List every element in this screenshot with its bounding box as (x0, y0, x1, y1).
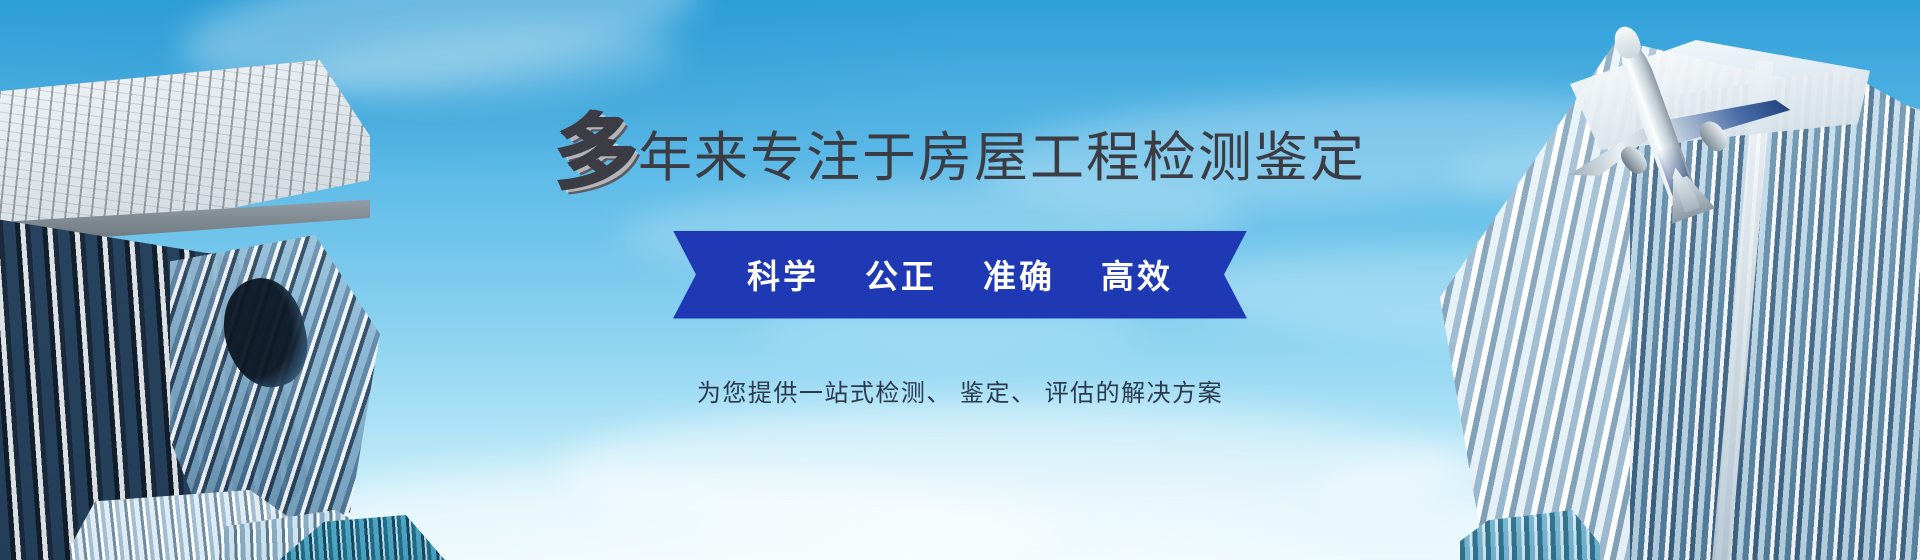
value-ribbon-items: 科学 公正 准确 高效 (747, 250, 1173, 298)
value-ribbon: 科学 公正 准确 高效 (673, 231, 1247, 319)
headline-text: 年来专注于房屋工程检测鉴定 (638, 131, 1366, 189)
ribbon-item-kexue: 科学 (747, 250, 819, 298)
value-ribbon-wrapper: 科学 公正 准确 高效 (673, 231, 1247, 319)
ribbon-item-zhunque: 准确 (983, 250, 1055, 298)
ribbon-item-gaoxiao: 高效 (1101, 250, 1173, 298)
banner-headline: 多 年来专注于房屋工程检测鉴定 (554, 118, 1366, 189)
banner-content: 多 年来专注于房屋工程检测鉴定 科学 公正 准确 高效 为您提供一站式检测、 鉴… (0, 0, 1920, 560)
headline-lead-character: 多 (554, 118, 636, 189)
banner-subtitle: 为您提供一站式检测、 鉴定、 评估的解决方案 (697, 373, 1223, 408)
ribbon-item-gongzheng: 公正 (865, 250, 937, 298)
hero-banner: 多 年来专注于房屋工程检测鉴定 科学 公正 准确 高效 为您提供一站式检测、 鉴… (0, 0, 1920, 560)
